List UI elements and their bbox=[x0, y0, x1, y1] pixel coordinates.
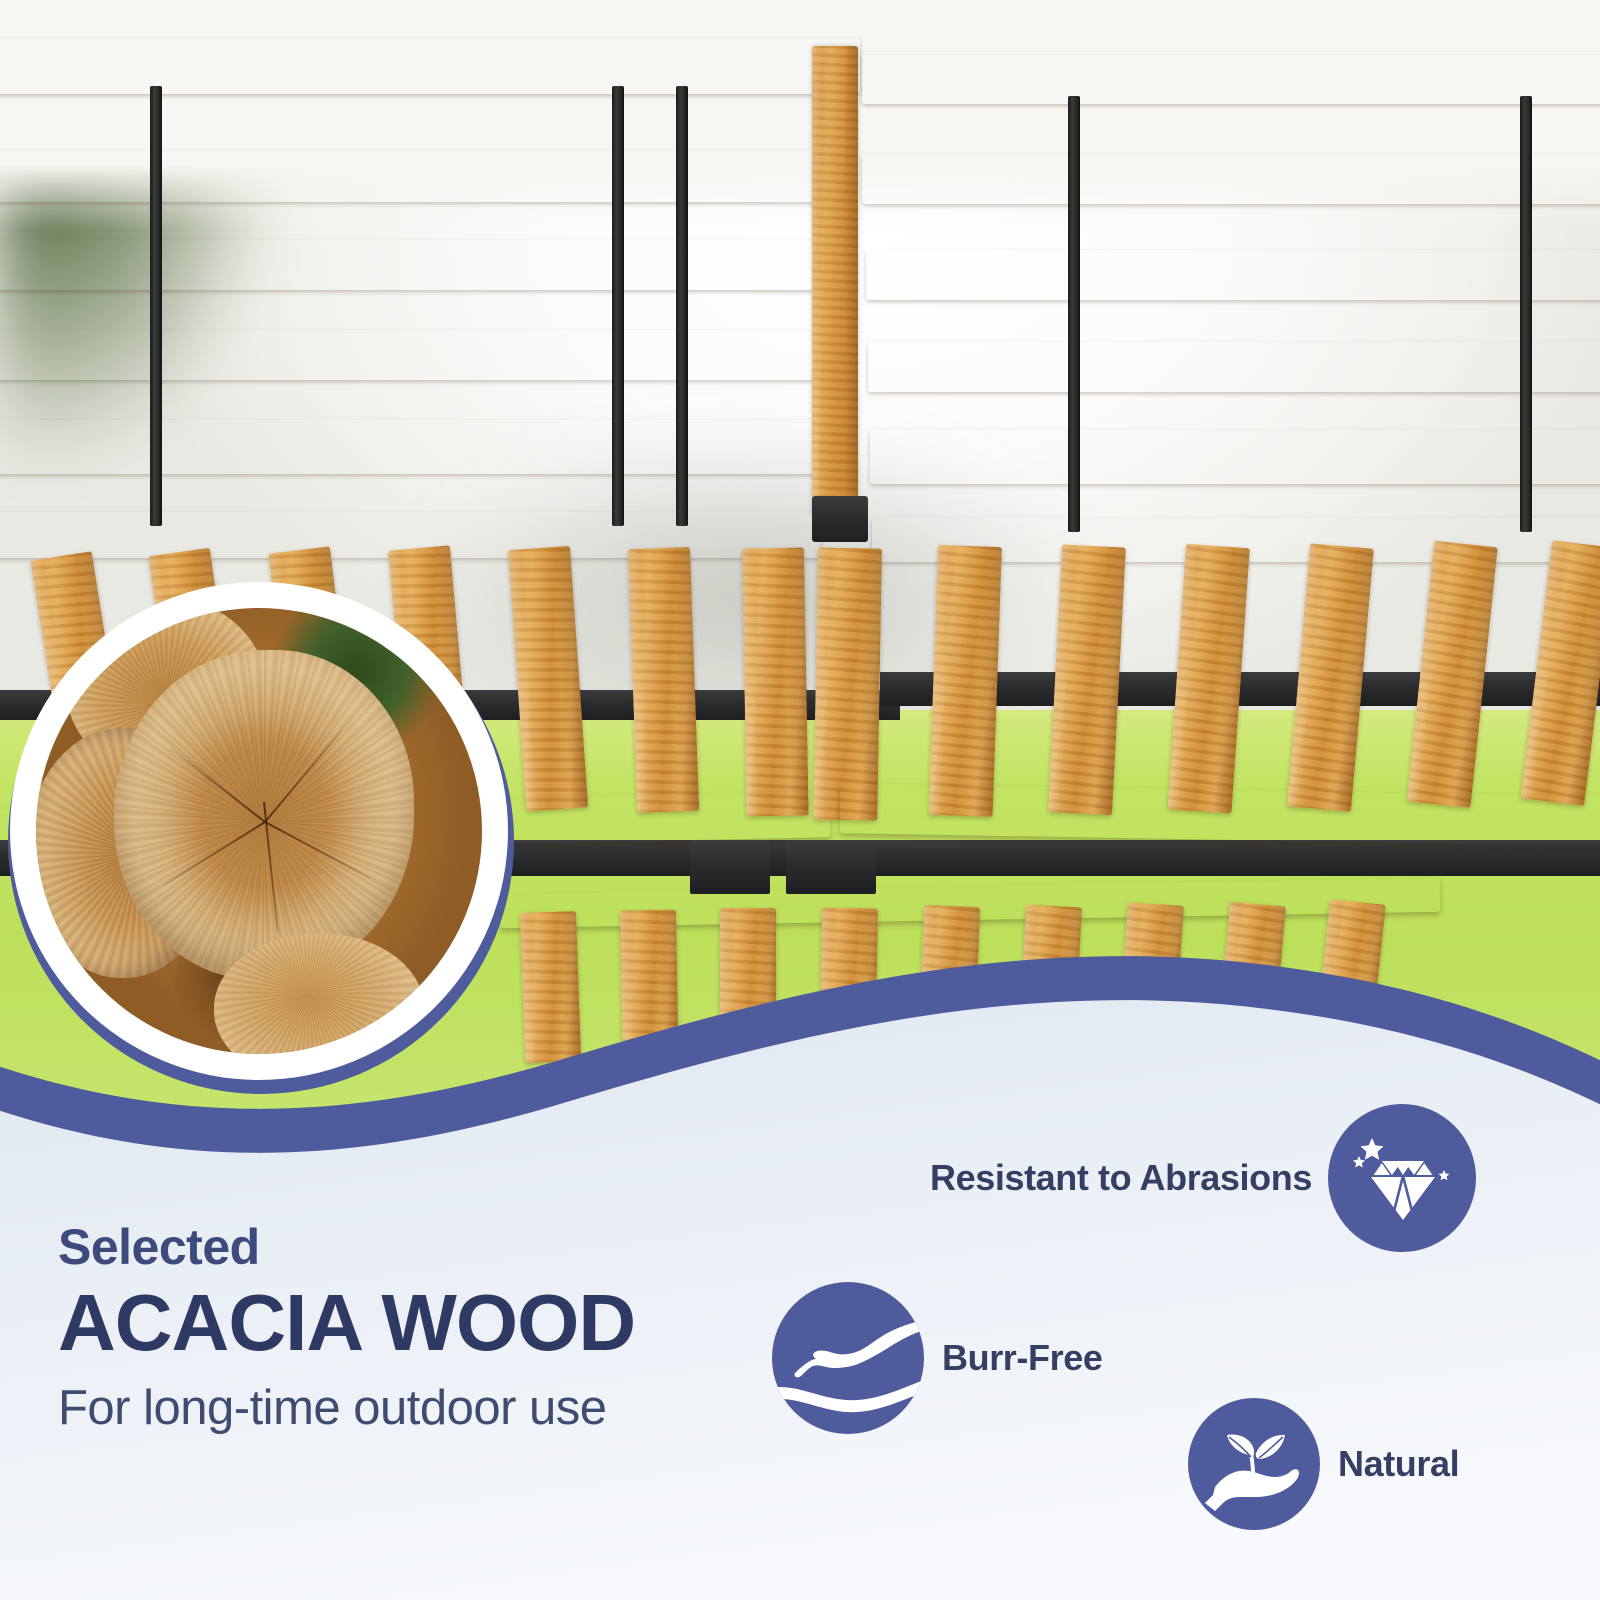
seat-slat bbox=[813, 547, 882, 820]
metal-post bbox=[676, 86, 688, 526]
seat-slat bbox=[1048, 544, 1126, 815]
smooth-hand-icon bbox=[772, 1282, 924, 1434]
backrest-slat bbox=[0, 240, 840, 290]
metal-post bbox=[612, 86, 624, 526]
feature-badge-burr-free: Burr-Free bbox=[772, 1282, 1102, 1434]
headline-title: ACACIA WOOD bbox=[58, 1278, 778, 1368]
feature-badge-abrasion: Resistant to Abrasions bbox=[930, 1104, 1476, 1252]
lower-shelf-slat bbox=[1118, 902, 1184, 1054]
backrest-slat bbox=[870, 430, 1600, 484]
feature-icon-circle-abrasion bbox=[1328, 1104, 1476, 1252]
seat-slat bbox=[1407, 541, 1498, 808]
log-inset-photo bbox=[8, 588, 514, 1094]
feature-label-abrasion: Resistant to Abrasions bbox=[930, 1157, 1312, 1199]
lower-shelf-slat bbox=[819, 908, 878, 1063]
metal-post bbox=[150, 86, 162, 526]
seat-front-edge bbox=[840, 783, 1600, 847]
feature-label-burr-free: Burr-Free bbox=[942, 1337, 1102, 1379]
cut-log-image bbox=[36, 608, 482, 1054]
seat-slat bbox=[1168, 544, 1250, 814]
center-bracket bbox=[812, 496, 868, 542]
metal-post bbox=[1520, 96, 1532, 532]
lower-shelf-slat bbox=[1018, 905, 1082, 1058]
backrest-slat bbox=[862, 52, 1600, 104]
backrest-slat bbox=[0, 150, 840, 202]
headline-block: Selected ACACIA WOOD For long-time outdo… bbox=[58, 1222, 778, 1435]
seat-slat bbox=[1287, 543, 1374, 812]
lower-shelf-slat bbox=[1316, 899, 1386, 1042]
star-small bbox=[1353, 1156, 1365, 1168]
leg-bracket bbox=[690, 840, 770, 894]
lower-shelf-slat bbox=[620, 910, 679, 1063]
center-stile bbox=[812, 46, 858, 516]
seat-slat bbox=[929, 545, 1002, 817]
diamond-icon bbox=[1350, 1126, 1454, 1230]
lower-shelf-slat bbox=[919, 905, 980, 1059]
backrest-slat bbox=[0, 330, 828, 380]
star-large bbox=[1360, 1138, 1383, 1160]
log-crack bbox=[265, 821, 372, 879]
headline-eyebrow: Selected bbox=[58, 1222, 778, 1272]
lower-shelf-slat bbox=[520, 911, 581, 1063]
backrest-slat bbox=[0, 420, 820, 474]
seat-slat bbox=[742, 547, 809, 816]
seat-slat bbox=[508, 546, 588, 812]
backrest-slat bbox=[862, 154, 1600, 204]
backrest-slat bbox=[0, 38, 860, 94]
headline-subtitle: For long-time outdoor use bbox=[58, 1382, 778, 1436]
seat-slat bbox=[628, 547, 699, 813]
log-crack bbox=[264, 729, 343, 822]
lower-shelf-slat bbox=[720, 908, 776, 1062]
log-crack bbox=[163, 821, 266, 886]
backrest-slat bbox=[868, 342, 1600, 392]
feature-icon-circle-natural bbox=[1188, 1398, 1320, 1530]
feature-icon-circle-burr-free bbox=[772, 1282, 924, 1434]
log-crack bbox=[170, 747, 266, 822]
leg-bracket bbox=[786, 840, 876, 894]
metal-post bbox=[1068, 96, 1080, 532]
star-small bbox=[1438, 1170, 1449, 1180]
hand-plant-icon bbox=[1199, 1409, 1309, 1519]
feature-badge-natural: Natural bbox=[1188, 1398, 1459, 1530]
lower-shelf-slat bbox=[1218, 902, 1286, 1050]
marketing-image: Selected ACACIA WOOD For long-time outdo… bbox=[0, 0, 1600, 1600]
backrest-slat bbox=[866, 250, 1600, 300]
feature-label-natural: Natural bbox=[1338, 1443, 1459, 1485]
log-cross-section bbox=[114, 650, 414, 980]
